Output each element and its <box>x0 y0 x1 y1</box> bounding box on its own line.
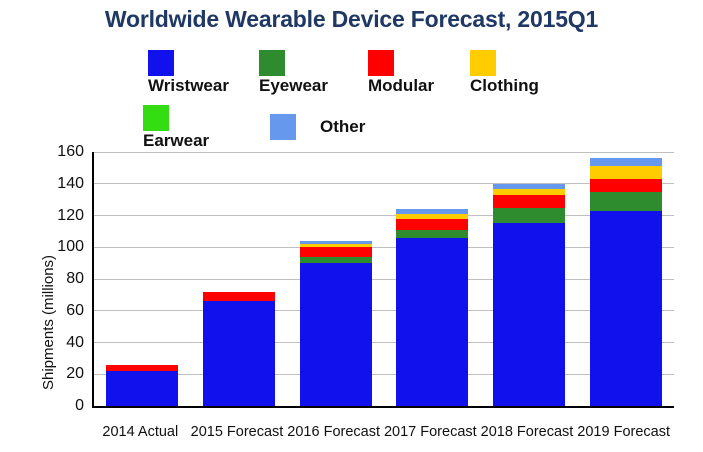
bar-stack[interactable] <box>106 365 178 406</box>
legend-item-wristwear: Wristwear <box>148 50 229 95</box>
gridline <box>94 374 674 375</box>
bar-segment-modular[interactable] <box>203 292 275 302</box>
legend-item-clothing: Clothing <box>470 50 539 95</box>
y-axis-tick-label: 160 <box>40 144 84 160</box>
y-axis-tick-label: 140 <box>40 176 84 192</box>
y-axis-tick-label: 0 <box>40 398 84 414</box>
bar-segment-modular[interactable] <box>493 195 565 208</box>
legend-swatch-modular-icon <box>368 50 394 76</box>
bar-stack[interactable] <box>396 209 468 406</box>
gridline <box>94 152 674 153</box>
legend-item-eyewear: Eyewear <box>259 50 328 95</box>
legend-label-other: Other <box>320 118 365 136</box>
gridline <box>94 247 674 248</box>
plot-area <box>92 152 674 408</box>
chart-legend: Wristwear Eyewear Modular Clothing Earwe… <box>0 50 703 148</box>
bar-segment-modular[interactable] <box>300 247 372 257</box>
legend-label-eyewear: Eyewear <box>259 77 328 95</box>
legend-item-earwear: Earwear <box>143 105 209 150</box>
legend-swatch-wristwear-icon <box>148 50 174 76</box>
bar-segment-wristwear[interactable] <box>493 223 565 406</box>
bar-segment-other[interactable] <box>590 158 662 166</box>
bar-segment-modular[interactable] <box>590 179 662 192</box>
bar-segment-eyewear[interactable] <box>396 230 468 238</box>
legend-swatch-earwear-icon <box>143 105 169 131</box>
plot-area-wrapper <box>92 152 672 408</box>
y-axis-tick-label: 40 <box>40 335 84 351</box>
y-axis-tick-label: 100 <box>40 239 84 255</box>
bar-segment-wristwear[interactable] <box>396 238 468 406</box>
bar-segment-wristwear[interactable] <box>203 301 275 406</box>
x-axis-tick-label: 2014 Actual <box>92 424 189 440</box>
x-axis-tick-labels: 2014 Actual2015 Forecast2016 Forecast201… <box>92 424 672 446</box>
legend-label-modular: Modular <box>368 77 434 95</box>
bar-segment-wristwear[interactable] <box>590 211 662 406</box>
bar-segment-eyewear[interactable] <box>493 208 565 224</box>
bar-segment-wristwear[interactable] <box>106 371 178 406</box>
gridline <box>94 342 674 343</box>
gridline <box>94 183 674 184</box>
bar-segment-wristwear[interactable] <box>300 263 372 406</box>
legend-swatch-other-icon <box>270 114 296 140</box>
bar-stack[interactable] <box>590 158 662 406</box>
x-axis-tick-label: 2017 Forecast <box>382 424 479 440</box>
x-axis-tick-label: 2015 Forecast <box>189 424 286 440</box>
bar-segment-modular[interactable] <box>396 219 468 230</box>
legend-item-modular: Modular <box>368 50 434 95</box>
bar-stack[interactable] <box>493 184 565 406</box>
gridline <box>94 310 674 311</box>
bar-segment-clothing[interactable] <box>590 166 662 179</box>
legend-item-other: Other <box>270 114 365 140</box>
legend-swatch-eyewear-icon <box>259 50 285 76</box>
y-axis-tick-label: 20 <box>40 366 84 382</box>
gridline <box>94 215 674 216</box>
y-axis-tick-label: 120 <box>40 208 84 224</box>
page-title: Worldwide Wearable Device Forecast, 2015… <box>0 6 703 33</box>
legend-label-wristwear: Wristwear <box>148 77 229 95</box>
bar-segment-eyewear[interactable] <box>590 192 662 211</box>
x-axis-tick-label: 2016 Forecast <box>285 424 382 440</box>
y-axis-tick-label: 60 <box>40 303 84 319</box>
x-axis-tick-label: 2019 Forecast <box>575 424 672 440</box>
legend-swatch-clothing-icon <box>470 50 496 76</box>
bar-stack[interactable] <box>300 241 372 406</box>
bar-stack[interactable] <box>203 292 275 406</box>
legend-label-earwear: Earwear <box>143 132 209 150</box>
y-axis-tick-label: 80 <box>40 271 84 287</box>
x-axis-tick-label: 2018 Forecast <box>479 424 576 440</box>
gridline <box>94 279 674 280</box>
legend-label-clothing: Clothing <box>470 77 539 95</box>
